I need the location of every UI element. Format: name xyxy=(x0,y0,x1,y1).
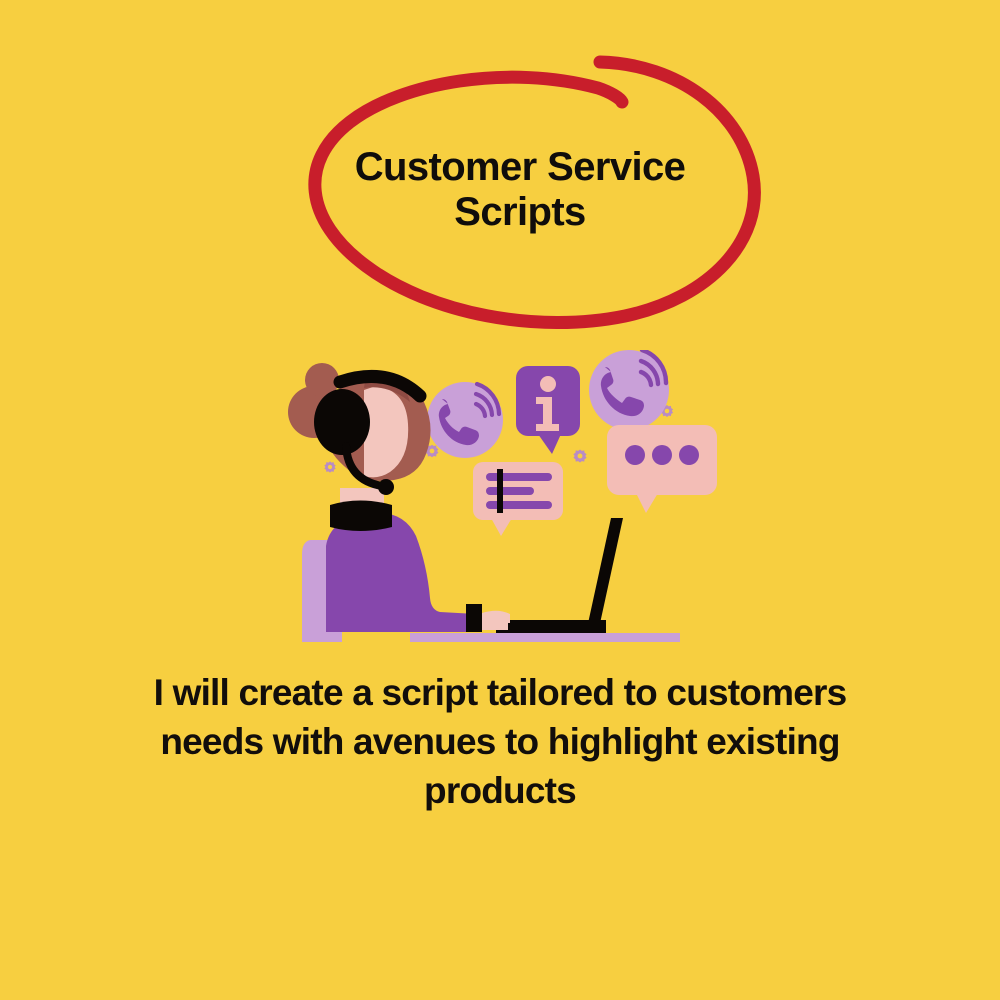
text-cursor-icon xyxy=(497,469,503,513)
headset-mic xyxy=(378,479,394,495)
phone-icon-left xyxy=(427,382,503,458)
typing-dot xyxy=(652,445,672,465)
typing-dot xyxy=(625,445,645,465)
gear-icon xyxy=(324,461,335,472)
sleeve-cuff xyxy=(466,604,482,632)
typing-dot xyxy=(679,445,699,465)
caption-line-1: I will create a script tailored to custo… xyxy=(90,668,910,717)
text-lines-bubble xyxy=(473,462,563,536)
torso xyxy=(326,513,476,632)
caption-line-3: products xyxy=(90,766,910,815)
caption-text: I will create a script tailored to custo… xyxy=(90,668,910,815)
page-title-line-1: Customer Service xyxy=(300,145,740,190)
caption-line-2: needs with avenues to highlight existing xyxy=(90,717,910,766)
collar xyxy=(330,501,392,532)
poster-canvas: Customer Service Scripts xyxy=(0,0,1000,1000)
typing-dots-bubble xyxy=(607,425,717,513)
info-bubble xyxy=(516,366,580,454)
phone-icon-right xyxy=(589,350,669,430)
page-title-line-2: Scripts xyxy=(300,190,740,235)
title-block: Customer Service Scripts xyxy=(0,40,1000,330)
laptop xyxy=(496,518,623,633)
gear-icon xyxy=(573,450,586,463)
desk-surface xyxy=(410,633,680,642)
page-title: Customer Service Scripts xyxy=(300,145,740,235)
customer-service-illustration xyxy=(280,350,720,660)
hand xyxy=(482,611,510,623)
headset-earcup xyxy=(314,389,370,455)
